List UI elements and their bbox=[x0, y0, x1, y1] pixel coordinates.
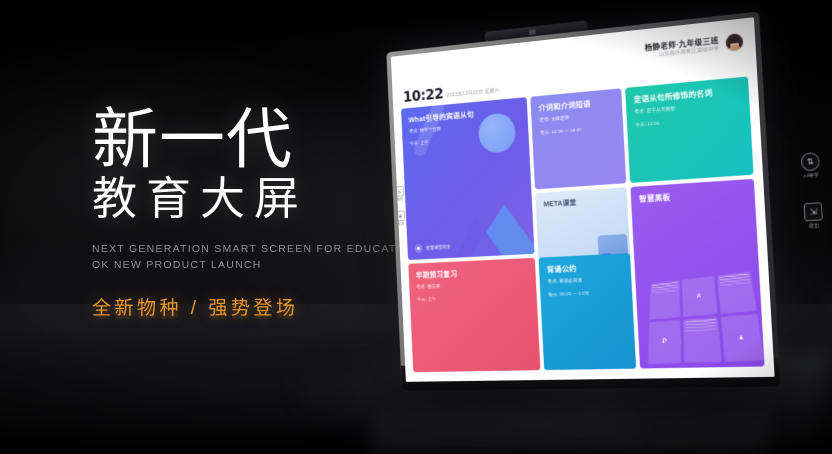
poster-english-line1: NEXT GENERATION SMART SCREEN FOR EDUCATI… bbox=[92, 241, 392, 257]
vr-person-torso bbox=[575, 342, 588, 359]
card-recitation-meta: 考点: 单词必背课 bbox=[547, 275, 623, 285]
board-tile-bars bbox=[717, 271, 757, 314]
card-relative-clause-meta: 考点: 定于从句剖析 bbox=[634, 99, 741, 115]
card-smart-board-title: 智慧黑板 bbox=[639, 187, 747, 205]
avatar[interactable] bbox=[725, 32, 745, 53]
vr-marker-red bbox=[566, 340, 572, 349]
clock-time: 10:22 bbox=[403, 87, 444, 105]
side-button-exit[interactable]: ⇲ 退出 bbox=[804, 202, 824, 230]
card-preview-review-title: 早期预习复习 bbox=[416, 265, 529, 281]
card-hero-chip-label: 智慧课堂同步 bbox=[426, 244, 451, 251]
board-tile-chart bbox=[684, 317, 722, 363]
clock-date: 2023年12月23日 星期六 bbox=[447, 87, 500, 101]
poster-headline: 新一代 bbox=[92, 108, 392, 171]
exit-icon: ⇲ bbox=[804, 202, 824, 221]
poster-stage: 新一代 教育大屏 NEXT GENERATION SMART SCREEN FO… bbox=[0, 0, 832, 454]
poster-english-line2: OK NEW PRODUCT LAUNCH bbox=[92, 257, 392, 273]
smart-board-illustration: A P ▲ bbox=[648, 271, 764, 364]
poster-tagline-reflection: 全新物种 / 强势登场 bbox=[92, 307, 392, 322]
avatar-body-icon bbox=[728, 45, 741, 51]
user-profile[interactable]: 杨静老师·九年级三班 山东临沂高新区高级中学 bbox=[644, 32, 744, 61]
card-relative-clause-meta2: 今天: 14:30 bbox=[635, 113, 742, 129]
card-prepositions-meta2: 考天: 14:30 — 16:20 bbox=[540, 123, 616, 136]
card-recitation[interactable]: 背诵公约 考点: 单词必背课 每天: 09:20 — 1:0文 bbox=[539, 253, 637, 370]
card-relative-clause[interactable]: 定语从句所修饰的名词 考点: 定于从句剖析 今天: 14:30 bbox=[625, 76, 753, 183]
board-tile-lines bbox=[650, 280, 681, 320]
card-preview-review-meta: 考点: 语法课 bbox=[416, 279, 529, 290]
tv-side-buttons: ⇅ AI导学 ⇲ 退出 bbox=[801, 152, 824, 230]
user-text: 杨静老师·九年级三班 山东临沂高新区高级中学 bbox=[644, 35, 719, 60]
tv-screen: 杨静老师·九年级三班 山东临沂高新区高级中学 bbox=[391, 17, 775, 382]
side-button-ai-guide-label: AI导学 bbox=[803, 172, 819, 179]
card-relative-clause-title: 定语从句所修饰的名词 bbox=[634, 85, 741, 106]
card-preview-review[interactable]: 早期预习复习 考点: 语法课 今天: 上午 bbox=[408, 258, 540, 372]
card-hero-chip: 智慧课堂同步 bbox=[414, 243, 450, 254]
user-name: 杨静老师·九年级三班 bbox=[644, 35, 718, 52]
play-icon bbox=[414, 244, 422, 253]
vr-panel-decor bbox=[598, 234, 630, 282]
vr-orbit-icon bbox=[586, 248, 628, 292]
poster-english-subtitle: NEXT GENERATION SMART SCREEN FOR EDUCATI… bbox=[92, 241, 392, 274]
side-button-ai-guide[interactable]: ⇅ AI导学 bbox=[801, 152, 821, 180]
card-grid: What引导的宾语从句 考点: 数字个位数 今天: 上午 智慧课堂同步 介词和介… bbox=[401, 76, 765, 375]
ai-guide-icon: ⇅ bbox=[801, 152, 821, 171]
card-meta-classroom-title: META课堂 bbox=[543, 195, 619, 210]
board-tile-p: P bbox=[648, 320, 682, 364]
board-tile-a: A bbox=[683, 276, 718, 317]
side-button-exit-label: 退出 bbox=[809, 223, 820, 230]
tv-shell: 杨静老师·九年级三班 山东临沂高新区高级中学 bbox=[372, 0, 795, 402]
avatar-hair-right-icon bbox=[738, 37, 743, 48]
camera-lens-icon bbox=[529, 29, 536, 35]
board-tile-image: ▲ bbox=[721, 314, 765, 362]
card-preview-review-meta2: 今天: 上午 bbox=[417, 292, 530, 303]
vr-person-head bbox=[576, 333, 585, 342]
avatar-hair-left-icon bbox=[726, 39, 731, 50]
card-smart-board[interactable]: 智慧黑板 A P ▲ bbox=[631, 179, 765, 368]
screen-ui: 杨静老师·九年级三班 山东临沂高新区高级中学 bbox=[391, 17, 775, 382]
card-hero[interactable]: What引导的宾语从句 考点: 数字个位数 今天: 上午 智慧课堂同步 bbox=[401, 97, 535, 260]
tv-display: 杨静老师·九年级三班 山东临沂高新区高级中学 bbox=[360, 10, 780, 400]
hero-mountain-front bbox=[453, 216, 502, 258]
poster-copy-block: 新一代 教育大屏 NEXT GENERATION SMART SCREEN FO… bbox=[92, 108, 392, 349]
vr-person-face bbox=[577, 337, 584, 343]
user-school: 山东临沂高新区高级中学 bbox=[645, 46, 719, 60]
poster-subheadline: 教育大屏 bbox=[92, 175, 392, 222]
vr-marker-yellow bbox=[609, 360, 615, 366]
card-prepositions-title: 介词和介词短语 bbox=[538, 96, 614, 114]
card-recitation-title: 背诵公约 bbox=[547, 261, 624, 275]
card-prepositions[interactable]: 介词和介词短语 老师: 文峰老师 考天: 14:30 — 16:20 bbox=[531, 88, 627, 189]
vr-person-illustration bbox=[573, 333, 590, 362]
avatar-hair-icon bbox=[727, 33, 742, 44]
